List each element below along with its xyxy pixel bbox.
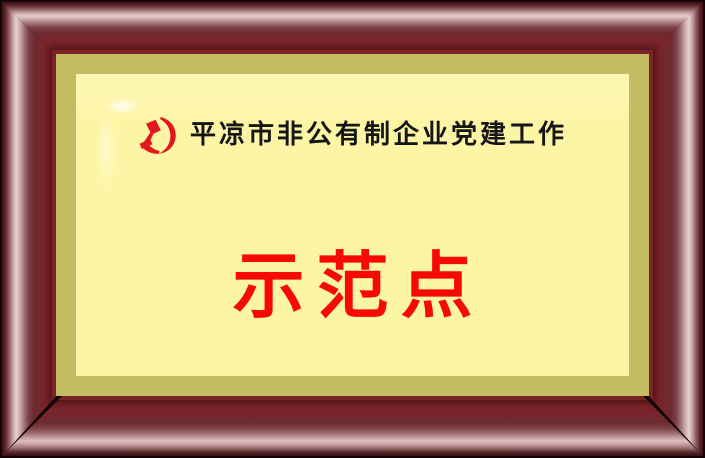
plaque-title: 平凉市非公有制企业党建工作 [190,122,567,148]
plaque-plate: 平凉市非公有制企业党建工作 示范点 中共平凉市非公有制企业工作委员会 二0一二年… [76,74,629,376]
award-plaque: 平凉市非公有制企业党建工作 示范点 中共平凉市非公有制企业工作委员会 二0一二年… [0,0,705,458]
plaque-header-row: 平凉市非公有制企业党建工作 [76,114,629,156]
plaque-mat-border: 平凉市非公有制企业党建工作 示范点 中共平凉市非公有制企业工作委员会 二0一二年… [56,54,649,396]
frame-rail-bottom [2,394,703,456]
frame-rail-left [2,2,58,456]
plaque-content: 平凉市非公有制企业党建工作 示范点 中共平凉市非公有制企业工作委员会 二0一二年… [76,74,629,376]
frame-rail-top [2,2,703,56]
plaque-headline: 示范点 [76,250,629,322]
cpc-hammer-sickle-icon [138,114,178,156]
frame-rail-right [647,2,703,456]
